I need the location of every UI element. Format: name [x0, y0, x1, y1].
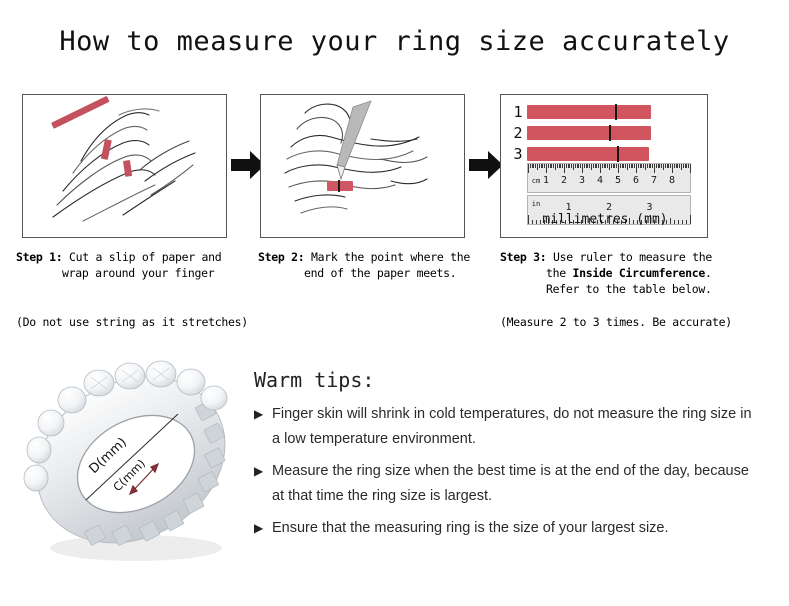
strip-mark-1 [615, 104, 617, 120]
page-title: How to measure your ring size accurately [0, 26, 789, 57]
ruler-tick-label: 4 [597, 175, 603, 186]
step-1-line1: Cut a slip of paper and [69, 250, 221, 264]
step-1-note: (Do not use string as it stretches) [16, 315, 276, 329]
bullet-triangle-icon: ▶ [254, 459, 272, 509]
warm-tip-item: ▶ Ensure that the measuring ring is the … [254, 516, 754, 541]
step-1-illustration-panel [22, 94, 227, 238]
step-2-line2: end of the paper meets. [258, 265, 498, 281]
hand-with-paper-strip-icon [23, 95, 226, 237]
warm-tip-text: Measure the ring size when the best time… [272, 459, 754, 509]
warm-tip-item: ▶ Measure the ring size when the best ti… [254, 459, 754, 509]
ruler-centimetre-scale: 12345678cm [527, 163, 691, 193]
strip-number: 2 [509, 124, 527, 142]
warm-tip-text: Ensure that the measuring ring is the si… [272, 516, 754, 541]
arrow-step2-to-step3-icon [468, 148, 504, 182]
ruler-unit-label: in [532, 200, 540, 208]
step-3-caption: Step 3: Use ruler to measure the the Ins… [500, 249, 770, 297]
strip-number: 1 [509, 103, 527, 121]
step-3-line2-tail: . [705, 266, 712, 280]
step-2-illustration-panel [260, 94, 465, 238]
strip-mark-3 [617, 146, 619, 162]
strip-mark-2 [609, 125, 611, 141]
ring-size-guide-page: How to measure your ring size accurately [0, 0, 789, 606]
ruler-unit-label: cm [532, 177, 540, 185]
step-3-line3: Refer to the table below. [500, 281, 770, 297]
eternity-ring-illustration-icon: D(mm) C(mm) [18, 352, 250, 577]
measured-strip-row: 3 [509, 145, 651, 162]
step-3-note: (Measure 2 to 3 times. Be accurate) [500, 315, 780, 329]
step-2-caption: Step 2: Mark the point where the end of … [258, 249, 498, 281]
measured-strip-list: 1 2 3 [509, 103, 651, 166]
unit-caption: millimetres (mm) [501, 212, 708, 227]
ruler-tick-label: 3 [579, 175, 585, 186]
ruler-tick-label: 2 [561, 175, 567, 186]
warm-tips-list: ▶ Finger skin will shrink in cold temper… [254, 402, 754, 548]
step-2-line1: Mark the point where the [311, 250, 470, 264]
step-3-line2-prefix: the [546, 266, 573, 280]
measured-strip-row: 1 [509, 103, 651, 120]
ruler-tick-label: 6 [633, 175, 639, 186]
step-1-caption: Step 1: Cut a slip of paper and wrap aro… [16, 249, 256, 281]
bullet-triangle-icon: ▶ [254, 516, 272, 541]
step-1-line2: wrap around your finger [16, 265, 256, 281]
step-3-measurement-panel: 1 2 3 12345678cm 123in millimetres (mm) [500, 94, 708, 238]
step-3-line2: the Inside Circumference. [500, 265, 770, 281]
warm-tip-item: ▶ Finger skin will shrink in cold temper… [254, 402, 754, 452]
hand-marking-paper-icon [261, 95, 464, 237]
warm-tip-text: Finger skin will shrink in cold temperat… [272, 402, 754, 452]
ruler-tick-label: 7 [651, 175, 657, 186]
step-3-line1: Use ruler to measure the [553, 250, 712, 264]
inside-circumference-emphasis: Inside Circumference [573, 266, 705, 280]
paper-strip-3 [527, 147, 649, 161]
step-1-label: Step 1: [16, 250, 62, 264]
step-2-label: Step 2: [258, 250, 304, 264]
step-3-label: Step 3: [500, 250, 546, 264]
paper-strip-1 [527, 105, 651, 119]
ruler-tick-label: 1 [543, 175, 549, 186]
paper-strip-2 [527, 126, 651, 140]
ruler-tick-label: 5 [615, 175, 621, 186]
ruler-tick-label: 8 [669, 175, 675, 186]
measured-strip-row: 2 [509, 124, 651, 141]
bullet-triangle-icon: ▶ [254, 402, 272, 452]
ring-diagram: D(mm) C(mm) [18, 352, 250, 577]
strip-number: 3 [509, 145, 527, 163]
warm-tips-heading: Warm tips: [254, 368, 374, 392]
